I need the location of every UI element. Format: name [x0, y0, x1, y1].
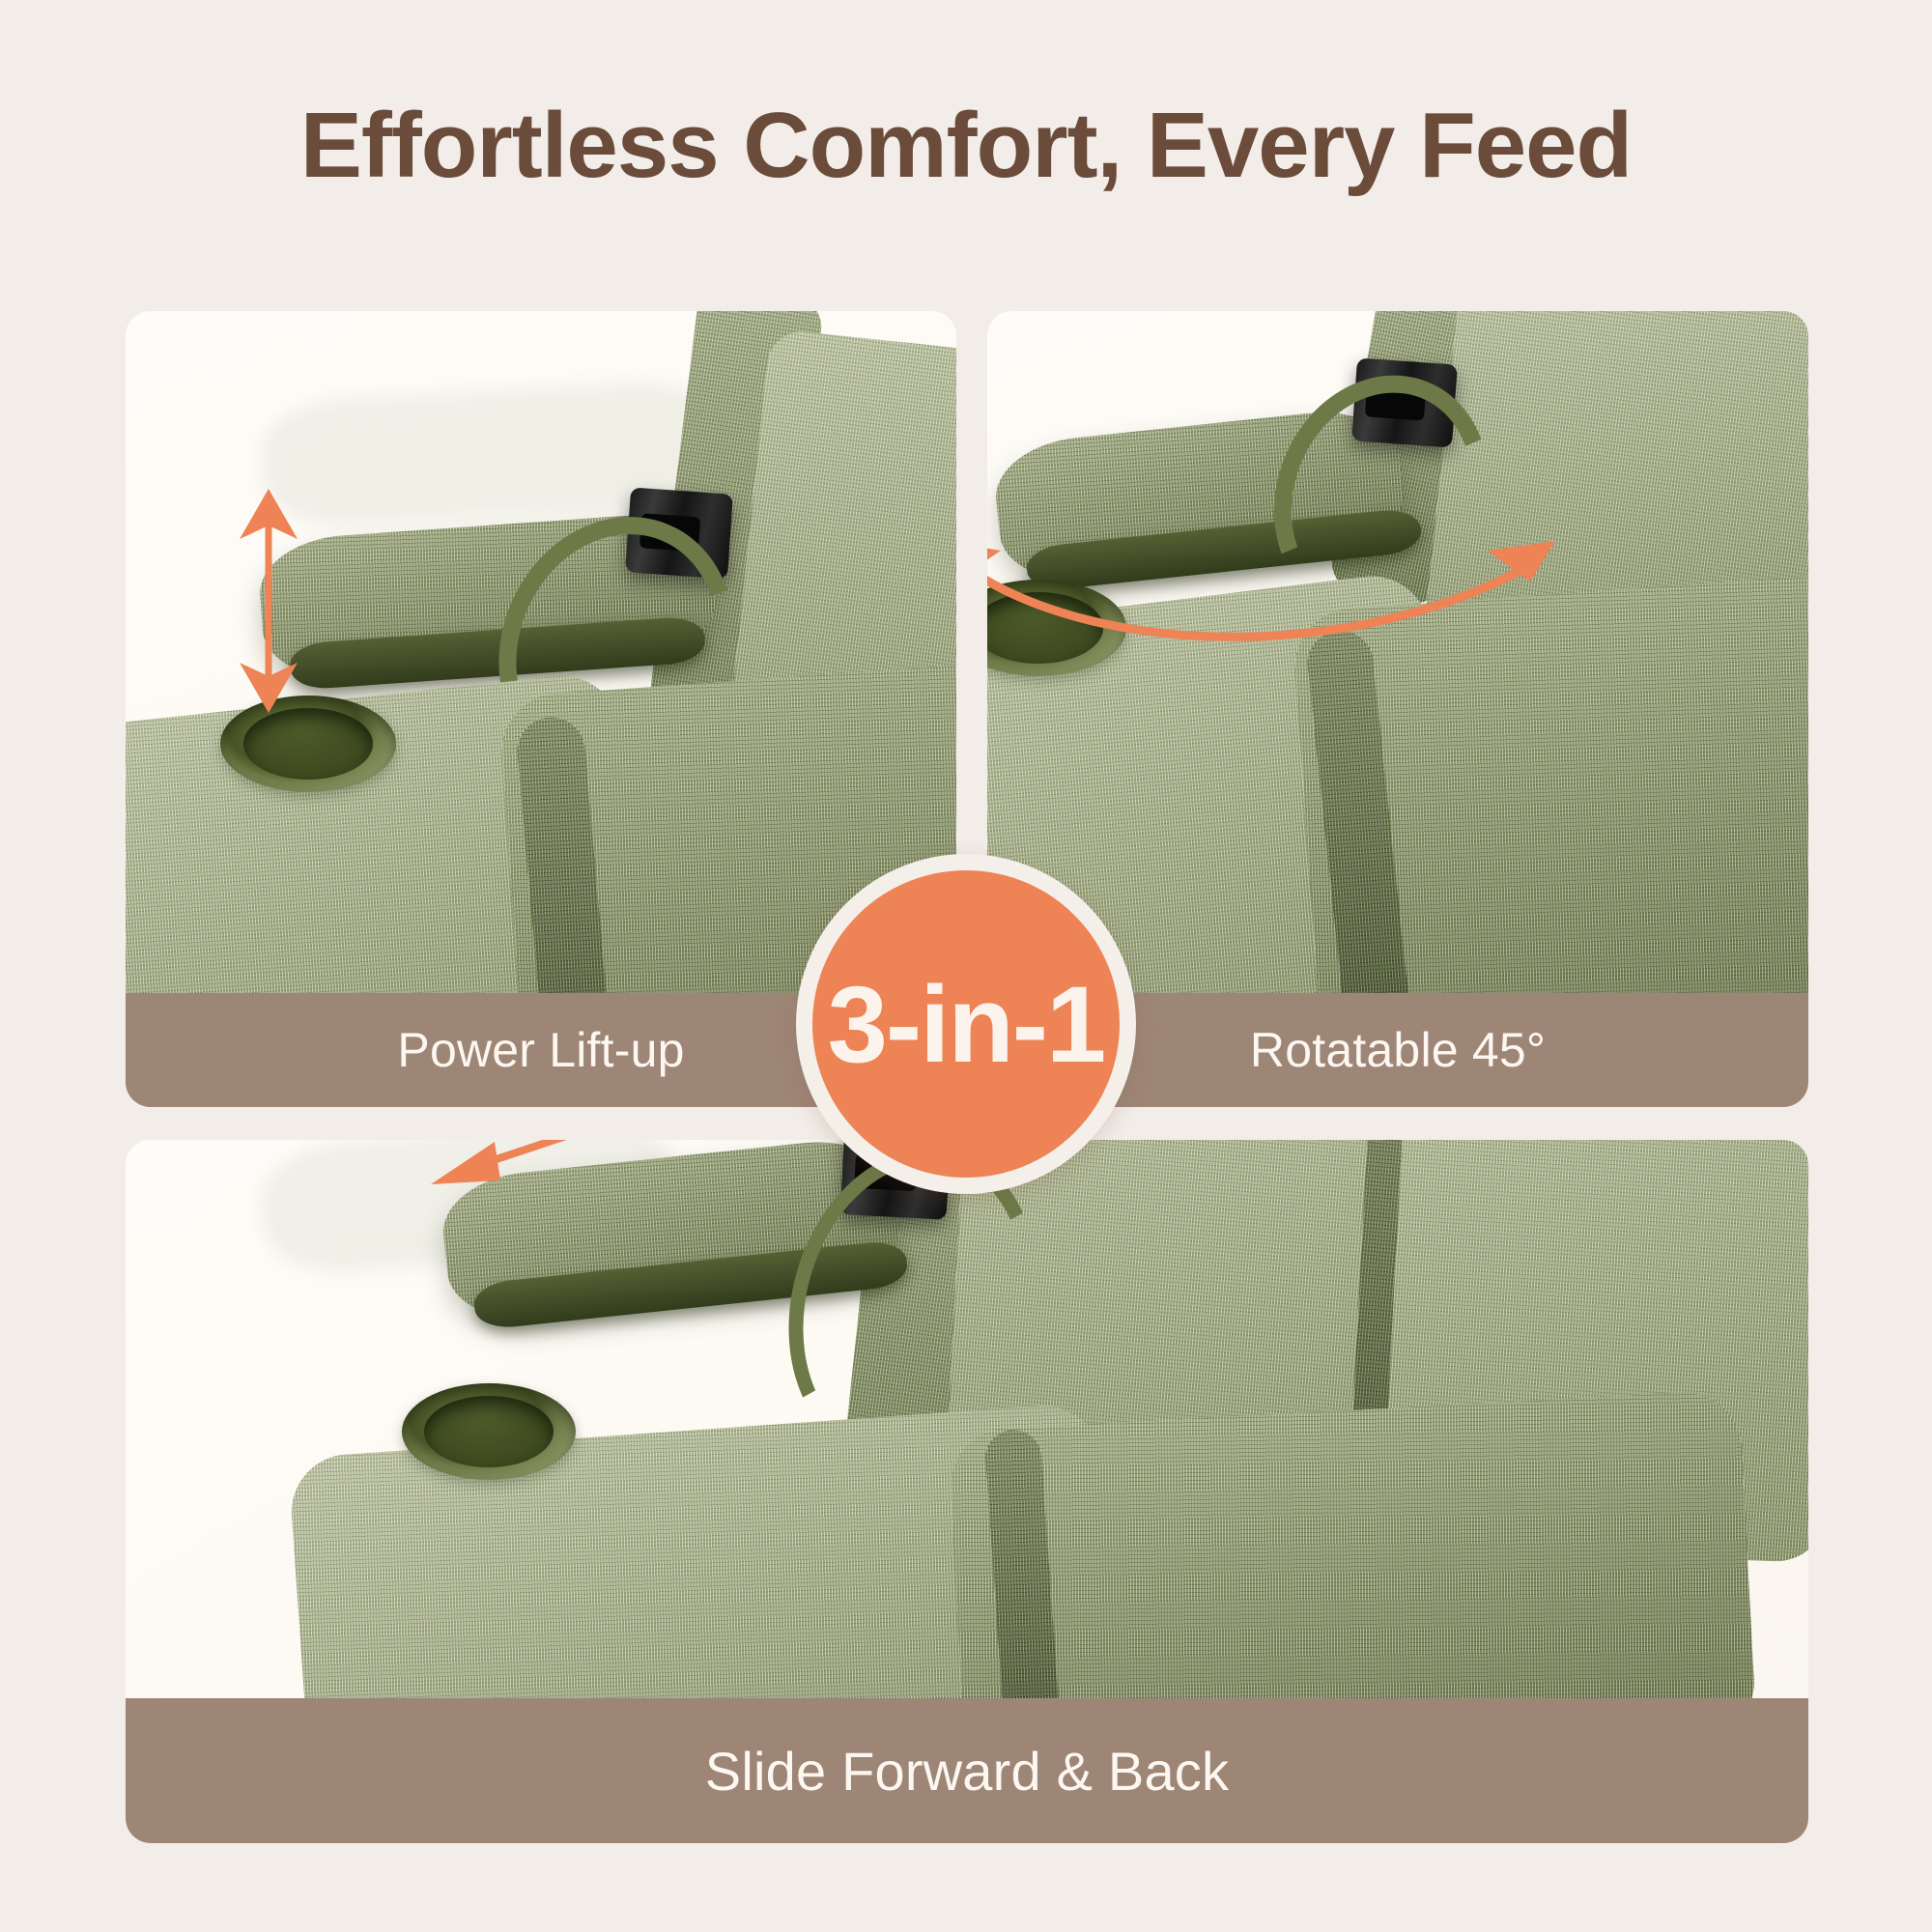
feature-panel-slide-forward-back[interactable]: Slide Forward & Back	[126, 1140, 1808, 1843]
curved-double-arrow-icon	[987, 504, 1596, 678]
diagonal-double-arrow-icon	[406, 1140, 811, 1207]
page-title: Effortless Comfort, Every Feed	[0, 93, 1932, 199]
vertical-double-arrow-icon	[211, 485, 327, 717]
cup-holder-icon	[402, 1383, 576, 1480]
three-in-one-badge: 3-in-1	[796, 854, 1136, 1194]
panel-caption-slide-forward-back: Slide Forward & Back	[126, 1698, 1808, 1843]
